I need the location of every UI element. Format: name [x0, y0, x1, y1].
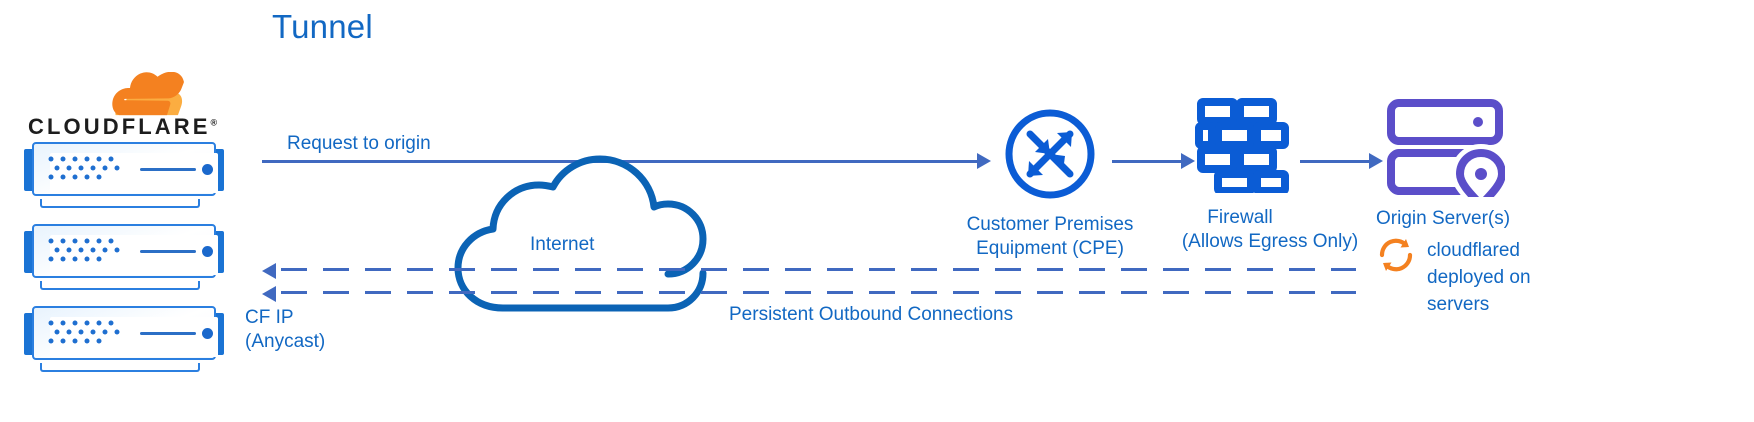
persistent-connection-line-2 — [281, 291, 1356, 294]
tunnel-architecture-diagram: Tunnel CLOUDFLARE® — [0, 0, 1754, 422]
internet-cloud-label: Internet — [530, 233, 594, 257]
cf-ip-label-line1: CF IP — [245, 306, 294, 330]
server-vent-dots — [48, 238, 120, 264]
persistent-connection-arrowhead-2 — [262, 286, 276, 302]
cf-ip-label-line2: (Anycast) — [245, 330, 325, 354]
server-base — [40, 199, 200, 208]
persistent-connection-line-1 — [281, 268, 1356, 271]
server-power-led — [202, 328, 213, 339]
cloudflared-label-line2: deployed on — [1427, 266, 1531, 290]
firewall-label-line2: (Allows Egress Only) — [1145, 230, 1395, 254]
cpe-label-line2: Equipment (CPE) — [930, 237, 1170, 261]
server-status-bar — [140, 332, 196, 335]
server-power-led — [202, 164, 213, 175]
cloudflare-wordmark: CLOUDFLARE® — [28, 114, 228, 140]
request-to-origin-label: Request to origin — [287, 132, 431, 156]
cloudflare-cloud-icon — [106, 72, 192, 116]
sync-arrows-icon — [1375, 234, 1417, 276]
firewall-to-origin-line — [1300, 160, 1372, 163]
server-vent-dots — [48, 156, 120, 182]
cloudflared-label-line3: servers — [1427, 293, 1489, 317]
edge-server-3[interactable] — [24, 304, 224, 366]
cloudflared-label-line1: cloudflared — [1427, 239, 1520, 263]
request-to-origin-arrowhead — [977, 153, 991, 169]
edge-server-1[interactable] — [24, 140, 224, 202]
persistent-connection-arrowhead-1 — [262, 263, 276, 279]
brick-wall-icon[interactable] — [1193, 97, 1289, 193]
diagram-title: Tunnel — [272, 8, 373, 46]
cloudflare-logo: CLOUDFLARE® — [28, 72, 228, 140]
wordmark-text: CLOUDFLARE — [28, 114, 211, 139]
cpe-converging-arrows-icon[interactable] — [1004, 108, 1096, 200]
server-status-bar — [140, 250, 196, 253]
persistent-connections-label: Persistent Outbound Connections — [729, 303, 1013, 327]
firewall-to-origin-arrowhead — [1369, 153, 1383, 169]
firewall-label-line1: Firewall — [1150, 206, 1330, 230]
trademark-symbol: ® — [211, 118, 218, 128]
cpe-label-line1: Customer Premises — [930, 213, 1170, 237]
cpe-to-firewall-line — [1112, 160, 1184, 163]
internet-cloud-icon — [440, 140, 720, 312]
server-base — [40, 281, 200, 290]
server-base — [40, 363, 200, 372]
origin-server-pin-icon[interactable] — [1385, 97, 1505, 197]
origin-server-label: Origin Server(s) — [1376, 207, 1510, 231]
server-vent-dots — [48, 320, 120, 346]
server-power-led — [202, 246, 213, 257]
server-status-bar — [140, 168, 196, 171]
edge-server-2[interactable] — [24, 222, 224, 284]
